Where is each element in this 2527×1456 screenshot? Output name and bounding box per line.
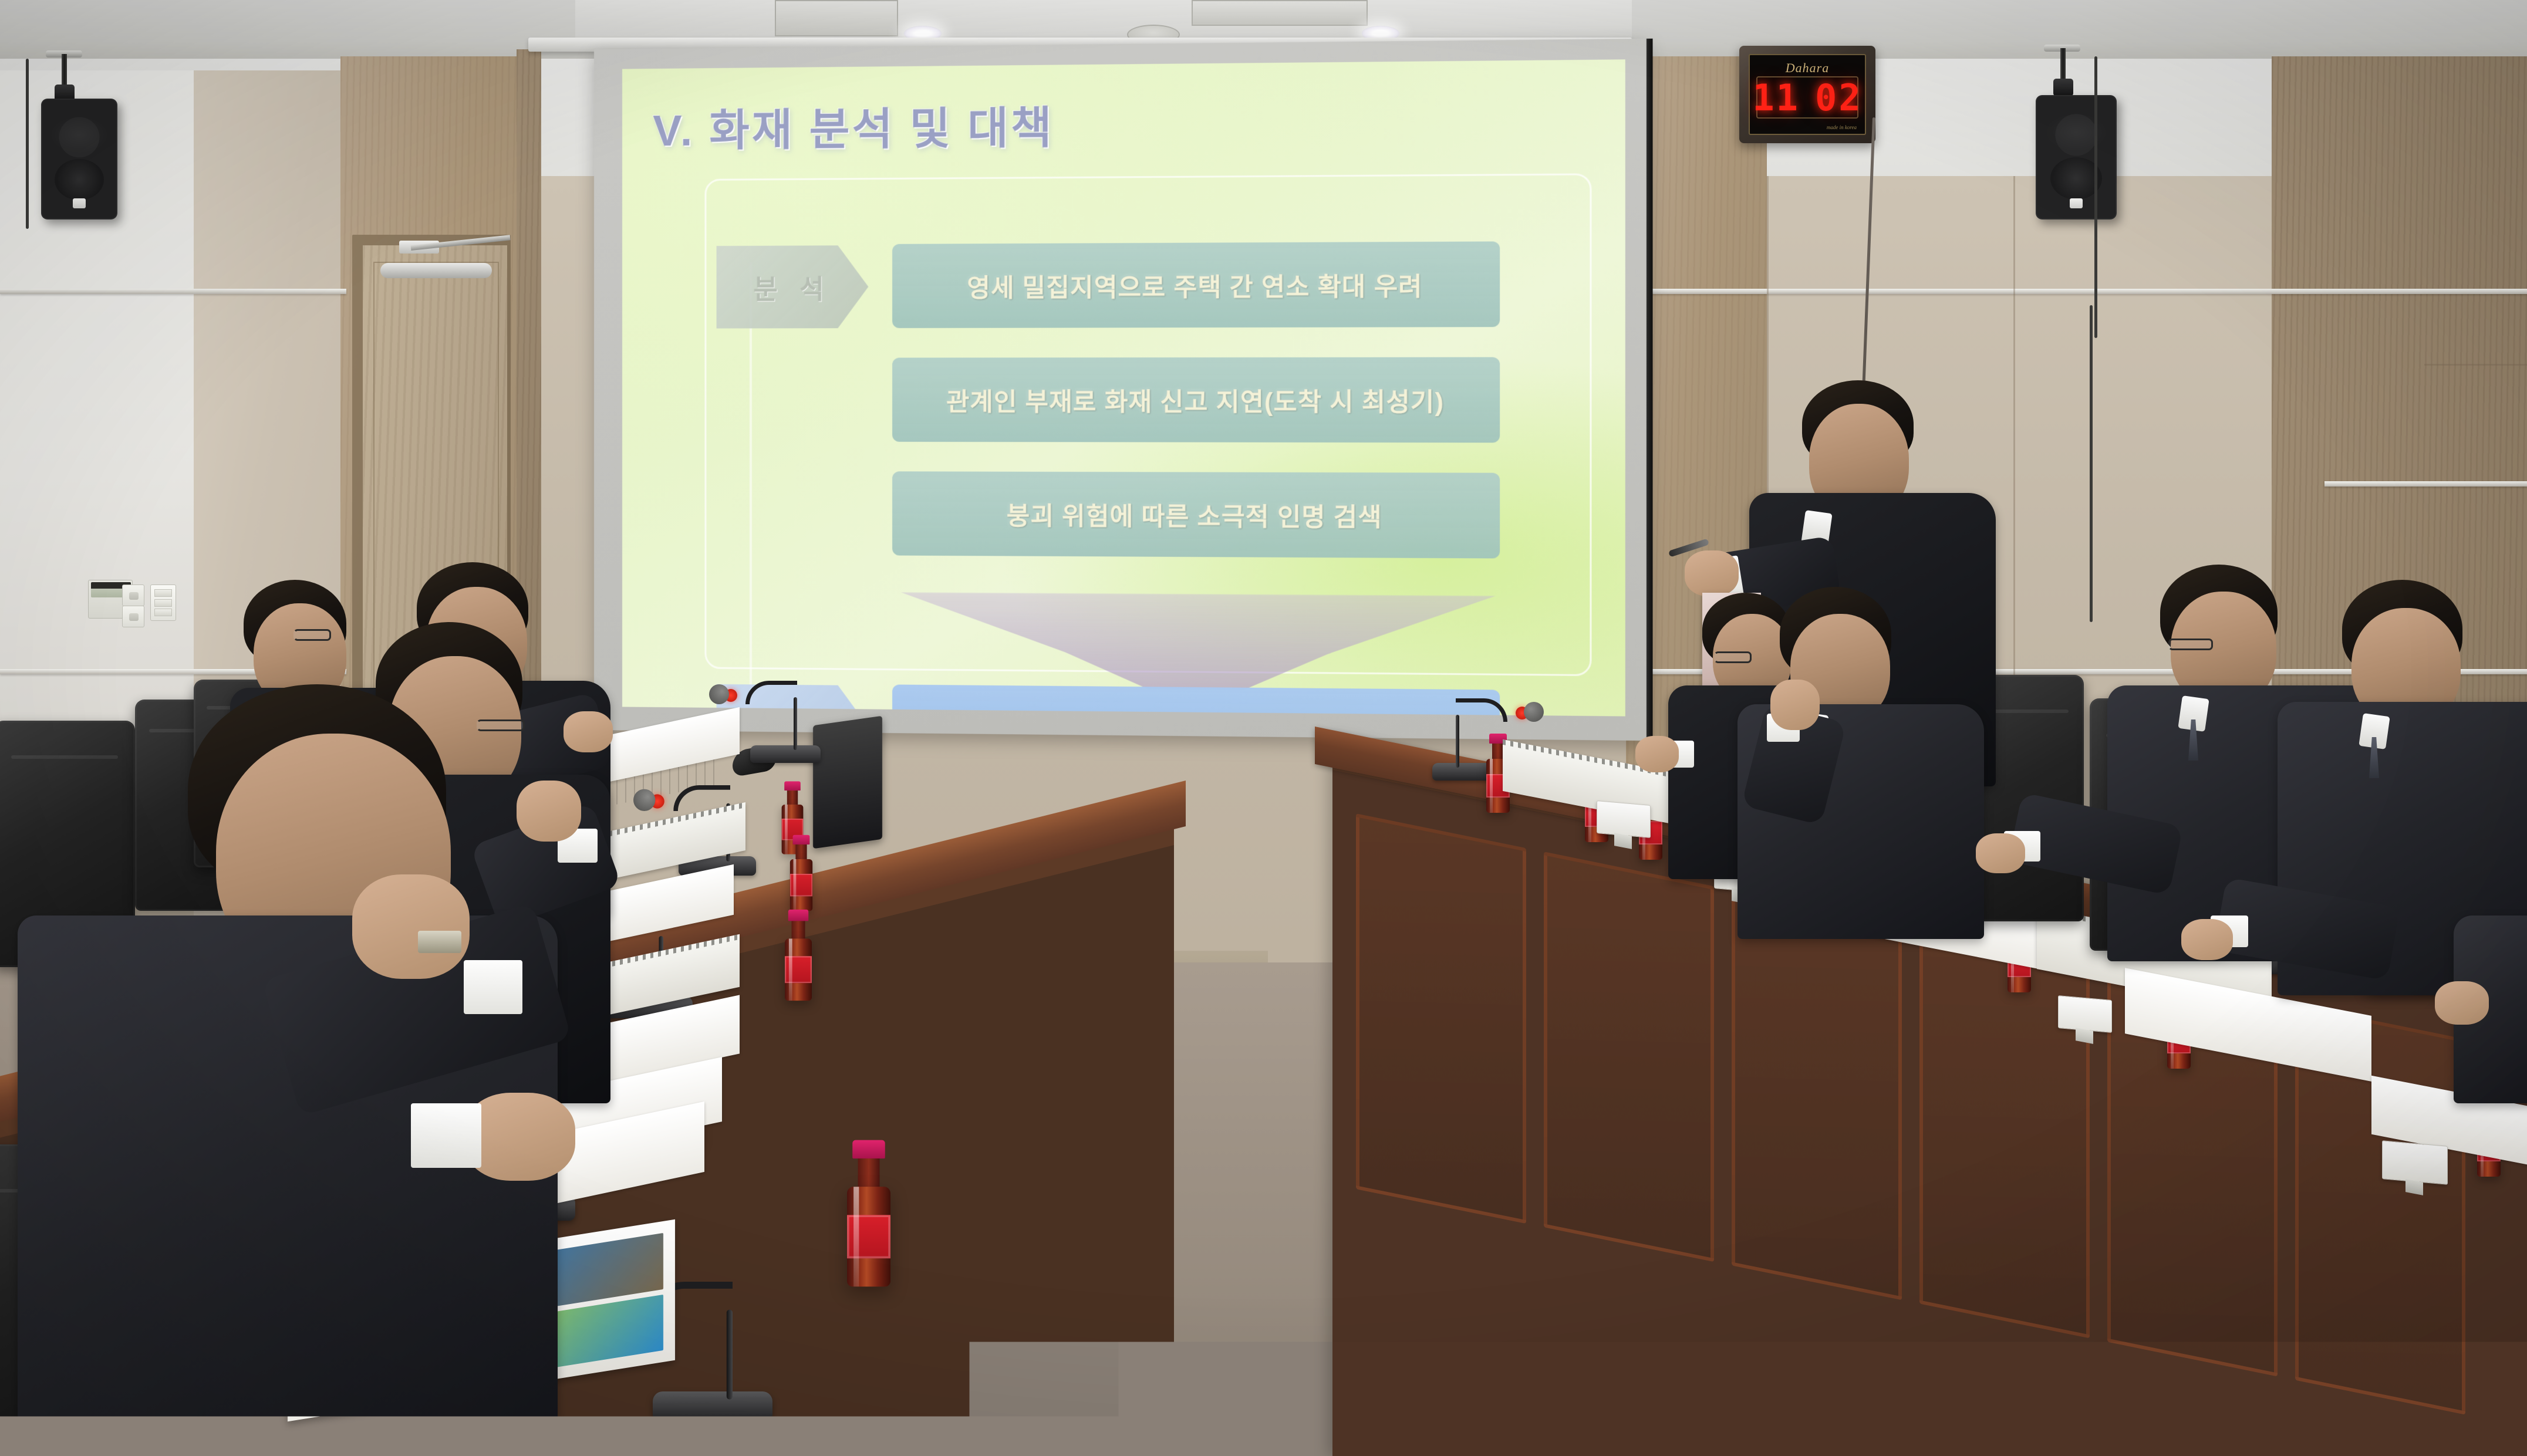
nameplate-r4	[2382, 1140, 2448, 1185]
attendee-hand	[352, 874, 470, 979]
bottle-highlight	[794, 859, 797, 911]
light-switch-upper[interactable]	[122, 585, 144, 606]
screen-right-edge	[1647, 39, 1653, 741]
bottle-cap	[784, 781, 801, 791]
clock-display-panel: Dahara 11 02 made in korea	[1749, 54, 1866, 135]
microphone-base	[750, 745, 821, 763]
presenter-hand	[1685, 550, 1739, 596]
wristwatch	[418, 931, 461, 953]
wall-seam-3	[2424, 364, 2527, 366]
attendee-hand	[1635, 736, 1679, 772]
clock-minutes: 02	[1815, 76, 1863, 119]
clock-time: 11 02	[1757, 77, 1857, 117]
light-switch-lower[interactable]	[122, 606, 144, 627]
clock-brand-label: Dahara	[1750, 60, 1865, 76]
microphone-head	[1524, 702, 1544, 722]
wall-rail-right-upper	[1632, 289, 2527, 294]
rocker-2[interactable]	[154, 599, 172, 607]
glasses-icon	[293, 629, 331, 641]
microphone-head	[709, 684, 729, 704]
digital-wall-clock: Dahara 11 02 made in korea	[1739, 46, 1875, 143]
clock-sub-label: made in korea	[1827, 124, 1857, 130]
microphone-head	[633, 789, 655, 811]
microphone-l1[interactable]	[727, 692, 821, 763]
attendee-hand	[564, 711, 613, 752]
rocker-1[interactable]	[154, 589, 172, 597]
bottle-neck	[787, 791, 798, 805]
attendee-hand	[1976, 833, 2025, 873]
bottle-cap	[852, 1140, 885, 1158]
ceiling-vent-2	[1192, 0, 1368, 26]
microphone-neck	[727, 1310, 733, 1400]
clock-hours: 11	[1752, 76, 1800, 119]
bottle-body	[847, 1187, 890, 1286]
wall-rail-left-upper	[0, 289, 346, 294]
ceiling-speaker-left	[41, 99, 117, 219]
bottle-neck	[795, 844, 807, 859]
presentation-slide: V. 화재 분석 및 대책 분 석 영세 밀집지역으로 주택 간 연소 확대 우…	[622, 59, 1625, 716]
slide-analysis-item-2: 관계인 부재로 화재 신고 지연(도착 시 최성기)	[892, 357, 1500, 443]
table-right-panel-1	[1356, 813, 1526, 1224]
nameplate-r3	[2058, 995, 2112, 1033]
beverage-bottle-l5	[847, 1140, 890, 1287]
wall-rail-right-mid	[2324, 481, 2527, 487]
glasses-icon	[1714, 651, 1752, 663]
speaker-left-badge	[73, 198, 86, 208]
bottle-highlight	[853, 1187, 859, 1286]
attendee-hand	[1770, 680, 1820, 730]
slide-analysis-tag: 분 석	[717, 245, 869, 329]
bottle-highlight	[785, 805, 788, 854]
rocker-3[interactable]	[154, 609, 172, 616]
attendee-hand	[517, 781, 581, 842]
slide-left-connector	[750, 262, 752, 717]
speaker-right-knuckle	[2053, 79, 2073, 96]
computer-monitor-back	[813, 716, 882, 849]
table-right-panel-3	[1732, 890, 1902, 1300]
beverage-bottle-l2	[790, 835, 812, 911]
speaker-right-cable-lower	[2090, 305, 2093, 622]
slide-analysis-item-1: 영세 밀집지역으로 주택 간 연소 확대 우려	[892, 241, 1500, 328]
speaker-left-cable	[26, 59, 29, 229]
attendee-hand	[2181, 919, 2233, 960]
ceiling-speaker-right	[2036, 95, 2117, 219]
table-right-panel-2	[1544, 852, 1714, 1262]
bottle-neck	[1492, 744, 1504, 759]
door-closer-icon	[380, 263, 492, 278]
table-right-panel-4	[1919, 928, 2090, 1338]
nameplate-r1	[1597, 800, 1651, 838]
glasses-icon	[477, 719, 525, 731]
beverage-bottle-l3	[785, 910, 812, 1001]
bottle-highlight	[789, 938, 792, 1001]
clock-led-window: 11 02	[1756, 76, 1858, 119]
speaker-right-badge	[2070, 198, 2083, 208]
bottle-neck	[792, 921, 805, 938]
projection-screen: V. 화재 분석 및 대책 분 석 영세 밀집지역으로 주택 간 연소 확대 우…	[594, 39, 1648, 741]
bottle-cap	[788, 910, 809, 921]
bottle-cap	[793, 835, 810, 844]
speaker-right-cable	[2094, 56, 2097, 338]
microphone-base	[653, 1391, 772, 1421]
bottle-neck	[858, 1158, 880, 1187]
microphone-neck	[794, 697, 797, 750]
bottle-body	[790, 859, 812, 911]
bottle-highlight	[1490, 759, 1493, 813]
slide-analysis-item-3: 붕괴 위험에 따른 소극적 인명 검색	[892, 471, 1500, 558]
slide-measure-item-1: 인근 주택 연소 확대 방지에 주력	[892, 684, 1500, 716]
attendee-hand	[2435, 981, 2489, 1025]
bottle-body	[785, 938, 812, 1001]
light-switch-bank[interactable]	[150, 585, 176, 621]
attendee-cuff-lower	[411, 1103, 481, 1168]
attendee-cuff	[464, 960, 522, 1014]
glasses-icon	[2168, 639, 2213, 650]
conference-room-scene: Dahara 11 02 made in korea V. 화재 분석 및 대책…	[0, 0, 2527, 1456]
ceiling-vent	[775, 0, 898, 36]
slide-title: V. 화재 분석 및 대책	[653, 92, 1054, 158]
microphone-neck	[1456, 715, 1459, 768]
